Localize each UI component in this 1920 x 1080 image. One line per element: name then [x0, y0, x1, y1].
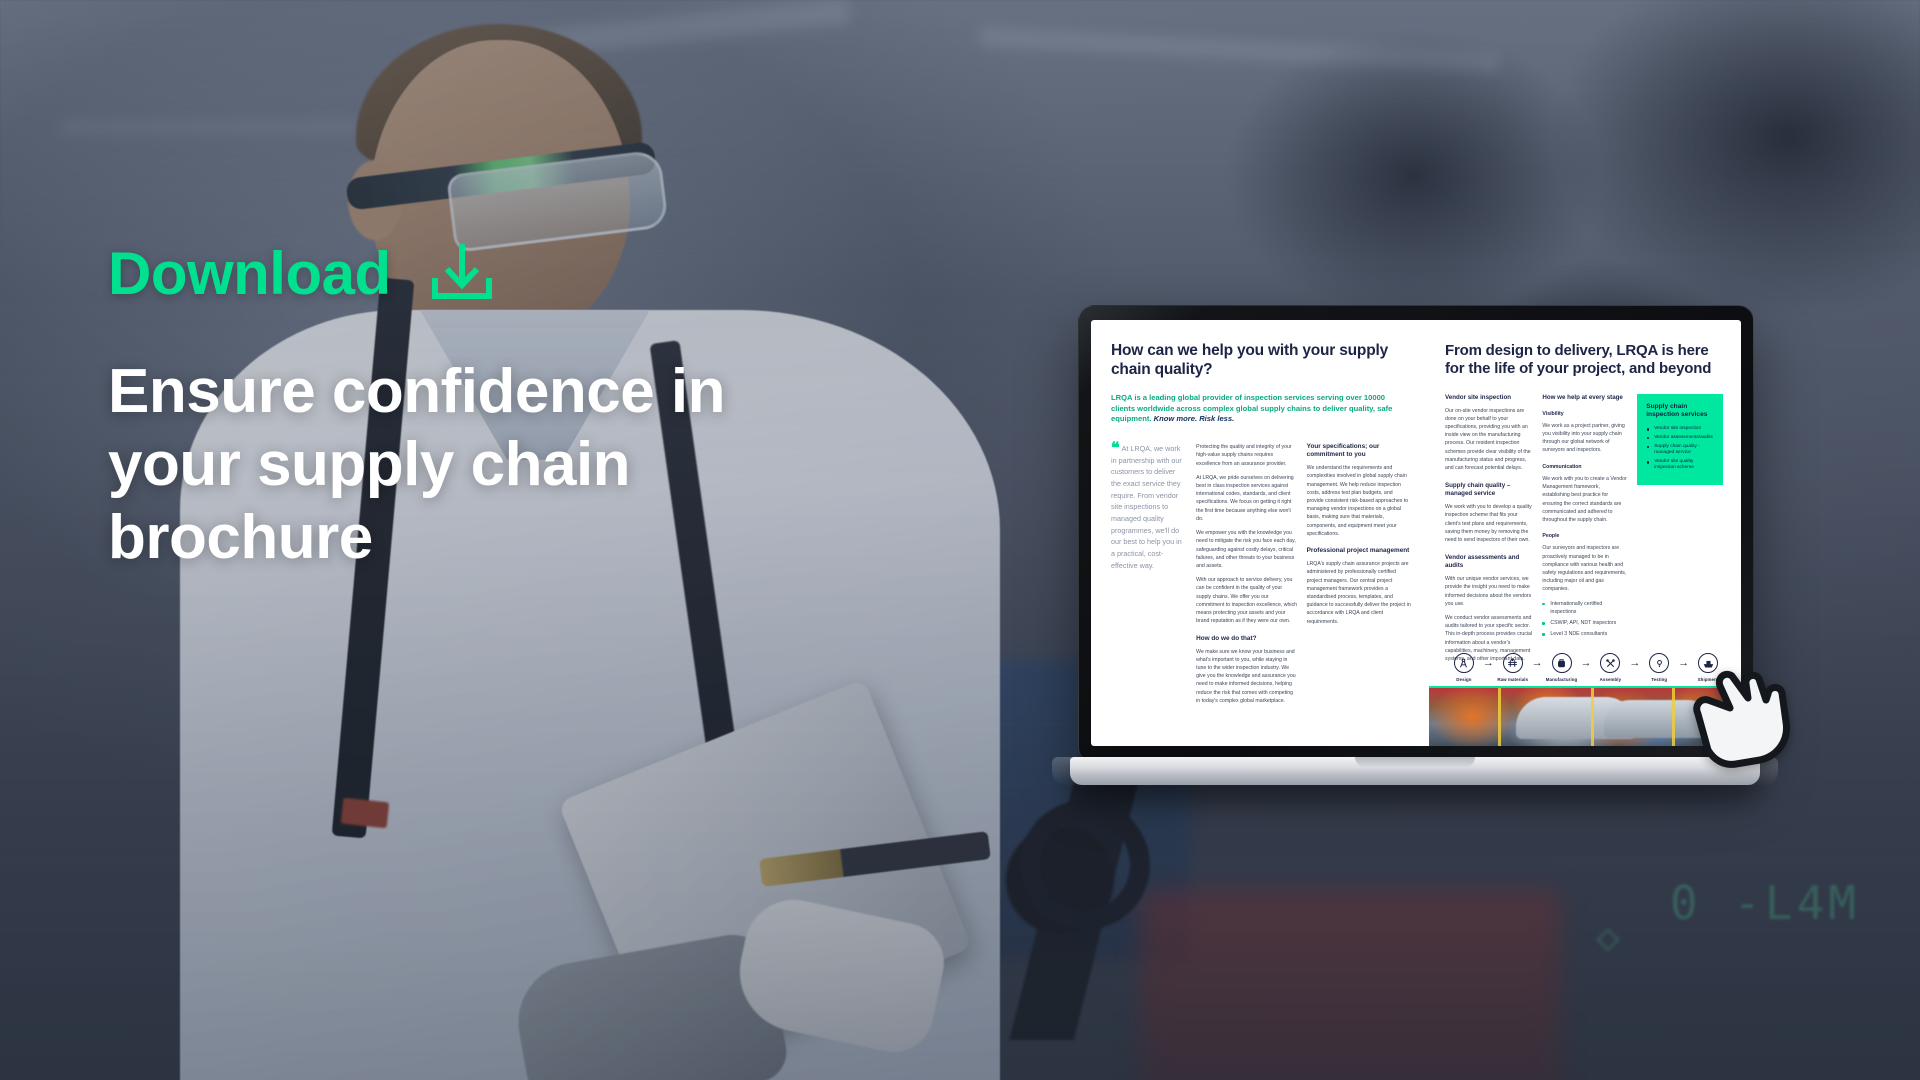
- yellow-guard-rail: [1672, 688, 1675, 746]
- pointing-hand-cursor[interactable]: [1690, 650, 1808, 773]
- paragraph: Our surveyors and inspectors are proacti…: [1542, 544, 1628, 593]
- hero-banner: 0 -L4M ◇ Download: [0, 0, 1920, 1080]
- brochure-spread: How can we help you with your supply cha…: [1091, 320, 1741, 746]
- list-item: Vendor site quality inspection scheme: [1646, 459, 1714, 472]
- flow-step-assembly: Assembly: [1591, 653, 1629, 682]
- laptop-screen[interactable]: How can we help you with your supply cha…: [1091, 320, 1741, 746]
- flow-label: Testing: [1651, 677, 1667, 682]
- right-column-a: Vendor site inspection Our on-site vendo…: [1445, 394, 1533, 670]
- flow-label: Manufacturing: [1546, 677, 1578, 682]
- services-callout-box: Supply chain inspection services Vendor …: [1637, 394, 1723, 485]
- flow-label: Design: [1456, 677, 1471, 682]
- page-title: Ensure confidence in your supply chain b…: [108, 355, 828, 574]
- pull-quote-column: ❝At LRQA, we work in partnership with ou…: [1111, 443, 1187, 711]
- laptop-base: [1070, 757, 1760, 785]
- laptop-base-notch: [1355, 757, 1475, 767]
- list-item: Vendor site inspection: [1646, 426, 1714, 432]
- compass-icon: [1454, 653, 1474, 673]
- brochure-left-page: How can we help you with your supply cha…: [1091, 320, 1429, 746]
- right-column-c: Supply chain inspection services Vendor …: [1637, 394, 1723, 670]
- list-item: Supply chain quality - managed service: [1646, 444, 1714, 457]
- paragraph: We work with you to create a Vendor Mana…: [1542, 475, 1628, 524]
- paragraph: At LRQA, we pride ourselves on deliverin…: [1196, 474, 1298, 523]
- machine-icon: [1552, 653, 1572, 673]
- subheading: Vendor assessments and audits: [1445, 554, 1533, 570]
- flow-arrow-icon: →: [1580, 653, 1591, 673]
- subheading: Your specifications; our commitment to y…: [1307, 443, 1411, 459]
- subheading: How we help at every stage: [1542, 394, 1628, 402]
- paragraph: Protecting the quality and integrity of …: [1196, 443, 1298, 468]
- flow-label: Raw materials: [1497, 677, 1528, 682]
- lede-emphasis: Know more. Risk less.: [1154, 414, 1235, 423]
- left-page-columns: ❝At LRQA, we work in partnership with ou…: [1111, 443, 1411, 711]
- tools-cross-icon: [1600, 653, 1620, 673]
- flow-arrow-icon: →: [1629, 653, 1640, 673]
- paragraph: We work with you to develop a quality in…: [1445, 503, 1533, 544]
- subheading: Professional project management: [1307, 547, 1411, 555]
- callout-title: Supply chain inspection services: [1646, 403, 1714, 420]
- hero-copy: Download Ensure confidence in your suppl…: [108, 240, 868, 574]
- credentials-list: Internationally certified inspections CS…: [1542, 600, 1628, 639]
- paragraph: With our unique vendor services, we prov…: [1445, 575, 1533, 608]
- paragraph: We empower you with the knowledge you ne…: [1196, 529, 1298, 570]
- left-page-title: How can we help you with your supply cha…: [1111, 342, 1411, 380]
- flow-arrow-icon: →: [1483, 653, 1494, 673]
- paragraph: We make sure we know your business and w…: [1196, 648, 1298, 706]
- list-item: CSWIP, API, NDT inspectors: [1542, 619, 1628, 627]
- flow-arrow-icon: →: [1678, 653, 1689, 673]
- subheading: How do we do that?: [1196, 635, 1298, 643]
- download-label: Download: [108, 244, 391, 304]
- pull-quote-text: At LRQA, we work in partnership with our…: [1111, 444, 1182, 570]
- flow-arrow-icon: →: [1532, 653, 1543, 673]
- yellow-guard-rail: [1591, 688, 1594, 746]
- subheading: Vendor site inspection: [1445, 394, 1533, 402]
- paragraph: We understand the requirements and compl…: [1307, 464, 1411, 538]
- magnifier-bulb-icon: [1649, 653, 1669, 673]
- list-item: Vendor assessments/audits: [1646, 435, 1714, 441]
- right-column-b: How we help at every stage Visibility We…: [1542, 394, 1628, 670]
- subheading: Supply chain quality – managed service: [1445, 482, 1533, 498]
- download-tray-icon[interactable]: [425, 240, 499, 307]
- callout-list: Vendor site inspection Vendor assessment…: [1646, 426, 1714, 472]
- pull-quote: ❝At LRQA, we work in partnership with ou…: [1111, 443, 1187, 571]
- flow-step-raw-materials: Raw materials: [1494, 653, 1532, 682]
- flow-step-testing: Testing: [1640, 653, 1678, 682]
- item-label: Communication: [1542, 463, 1628, 471]
- left-page-lede: LRQA is a leading global provider of ins…: [1111, 393, 1411, 425]
- paragraph: With our approach to service delivery, y…: [1196, 576, 1298, 625]
- item-label: Visibility: [1542, 410, 1628, 418]
- laptop-mockup: How can we help you with your supply cha…: [1070, 305, 1760, 795]
- right-page-title: From design to delivery, LRQA is here fo…: [1445, 342, 1723, 379]
- left-body-column-b: Your specifications; our commitment to y…: [1307, 443, 1411, 711]
- paragraph: We work as a project partner, giving you…: [1542, 422, 1628, 455]
- download-row: Download: [108, 240, 868, 307]
- right-page-columns: Vendor site inspection Our on-site vendo…: [1445, 394, 1723, 670]
- materials-grid-icon: [1503, 653, 1523, 673]
- laptop-lid: How can we help you with your supply cha…: [1078, 305, 1754, 763]
- yellow-guard-rail: [1498, 688, 1501, 746]
- item-label: People: [1542, 532, 1628, 540]
- list-item: Internationally certified inspections: [1542, 600, 1628, 616]
- flow-label: Assembly: [1600, 677, 1622, 682]
- process-flow: Design → Raw materials: [1445, 653, 1727, 682]
- flow-step-design: Design: [1445, 653, 1483, 682]
- list-item: Level 3 NDE consultants: [1542, 630, 1628, 638]
- paragraph: LRQA's supply chain assurance projects a…: [1307, 560, 1411, 626]
- paragraph: Our on-site vendor inspections are done …: [1445, 407, 1533, 473]
- flow-step-manufacturing: Manufacturing: [1543, 653, 1581, 682]
- left-body-column-a: Protecting the quality and integrity of …: [1196, 443, 1298, 711]
